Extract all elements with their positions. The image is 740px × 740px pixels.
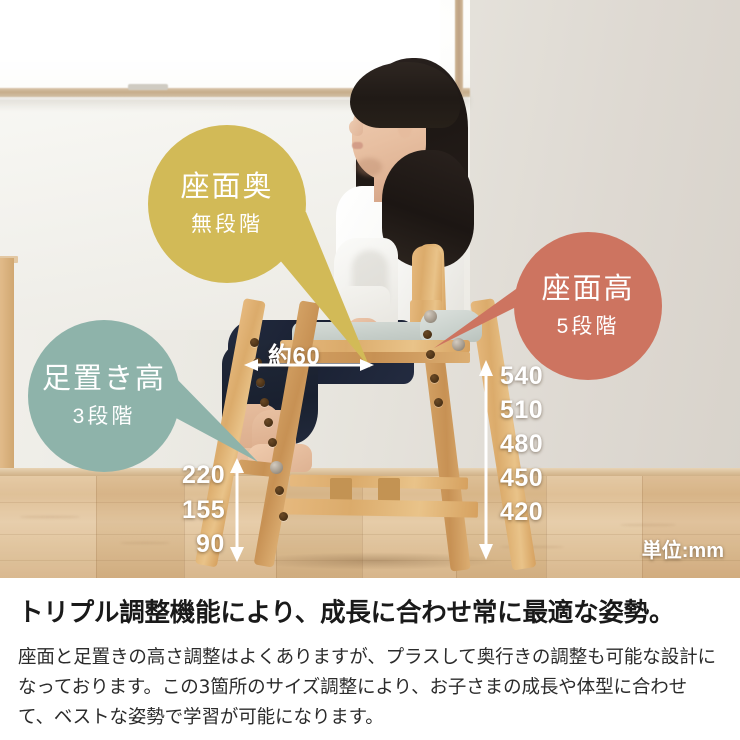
seat-height-value-510: 510 — [500, 396, 543, 425]
callout-seat-depth-subtitle: 無段階 — [191, 213, 263, 238]
footrest-value-155: 155 — [182, 496, 225, 525]
footrest-height-arrow — [228, 458, 246, 562]
caption-body: 座面と足置きの高さ調整はよくありますが、プラスして奥行きの調整も可能な設計になっ… — [18, 643, 722, 733]
callout-seat-depth[interactable]: 座面奥 無段階 — [148, 125, 306, 283]
unit-label: 単位:mm — [642, 534, 724, 563]
seat-height-arrow — [477, 360, 495, 560]
seat-height-value-420: 420 — [500, 498, 543, 527]
callout-seat-height[interactable]: 座面高 5段階 — [514, 232, 662, 380]
caption-block: トリプル調整機能により、成長に合わせ常に最適な姿勢。 座面と足置きの高さ調整はよ… — [0, 578, 740, 740]
caption-headline: トリプル調整機能により、成長に合わせ常に最適な姿勢。 — [18, 592, 722, 629]
callout-seat-height-title: 座面高 — [541, 272, 634, 306]
callout-seat-depth-title: 座面奥 — [180, 170, 273, 204]
seat-height-value-480: 480 — [500, 430, 543, 459]
callout-foot-height-subtitle: 3段階 — [73, 405, 136, 430]
footrest-value-90: 90 — [196, 530, 225, 559]
seat-height-value-450: 450 — [500, 464, 543, 493]
footrest-value-220: 220 — [182, 461, 225, 490]
callout-foot-height-title: 足置き高 — [42, 362, 166, 396]
product-photo: 座面奥 無段階 座面高 5段階 足置き高 3段階 約60 540 510 480… — [0, 0, 740, 578]
callout-seat-height-subtitle: 5段階 — [557, 315, 620, 340]
callout-foot-height[interactable]: 足置き高 3段階 — [28, 320, 180, 472]
seat-depth-arrow — [244, 356, 374, 374]
seat-height-value-540: 540 — [500, 362, 543, 391]
product-feature-image: 座面奥 無段階 座面高 5段階 足置き高 3段階 約60 540 510 480… — [0, 0, 740, 740]
